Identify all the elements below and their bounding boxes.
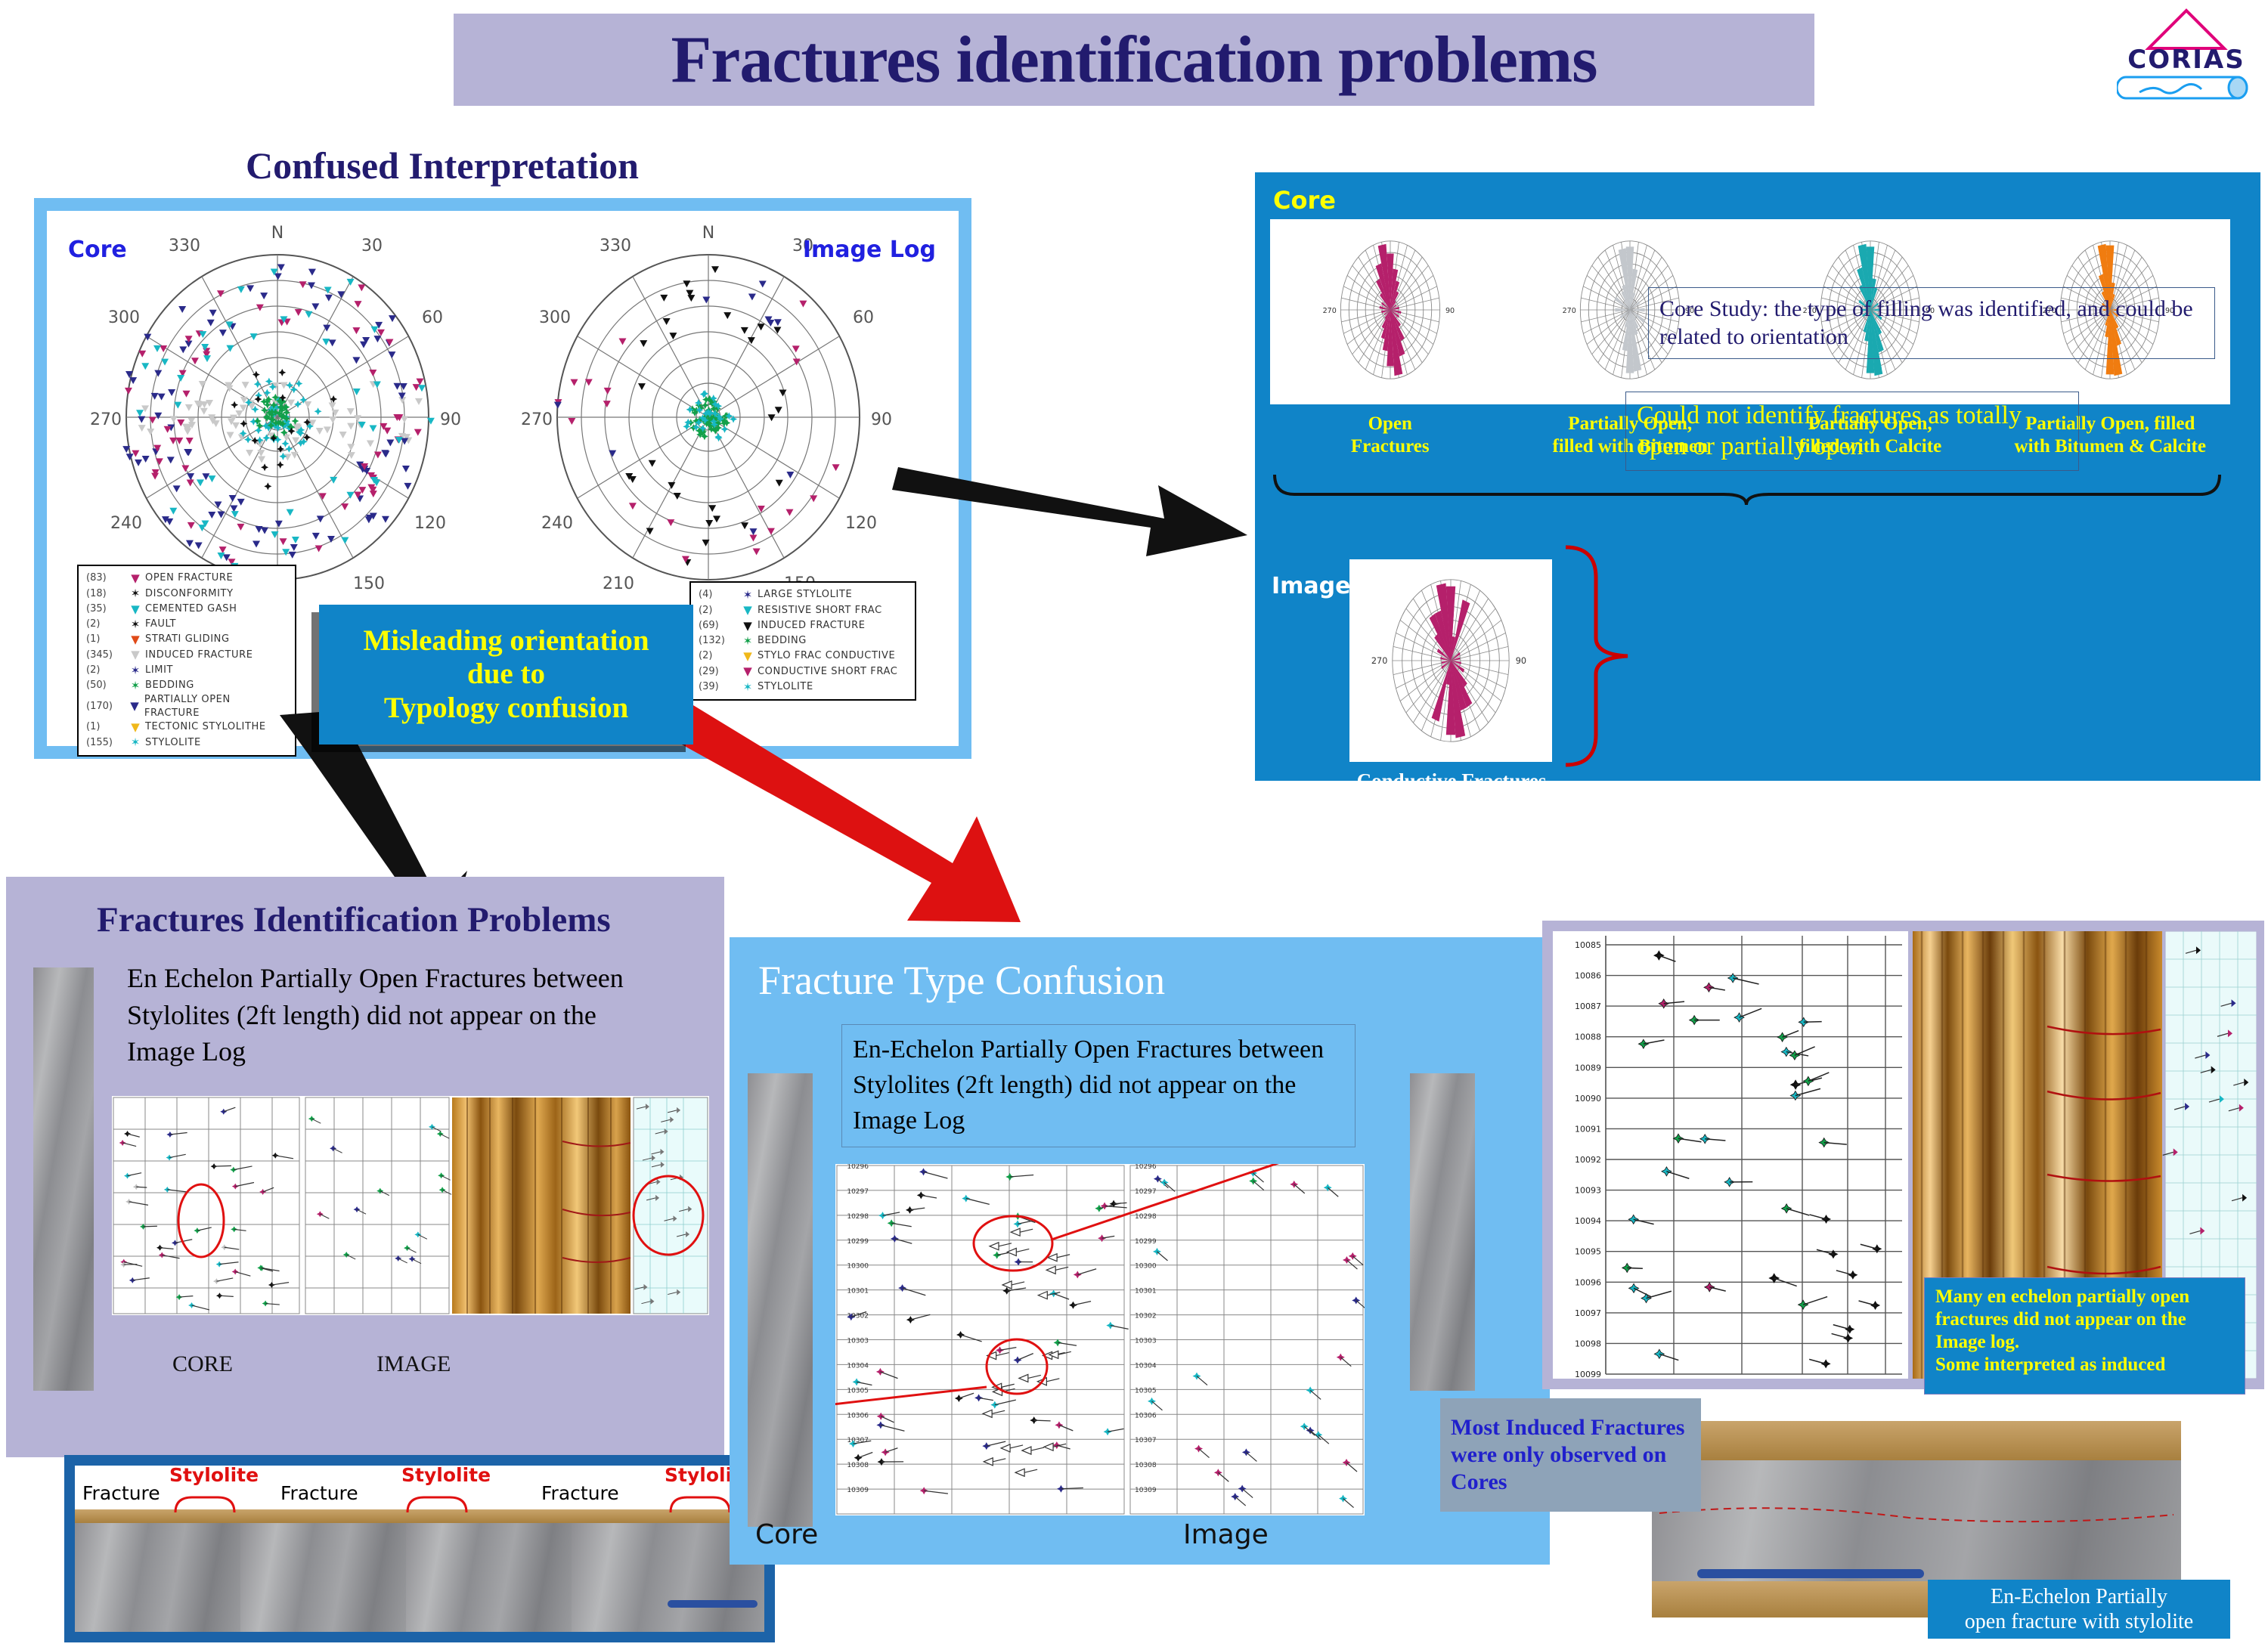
svg-text:10093: 10093 [1575, 1186, 1601, 1196]
core-legend-row: (18)✶DISCONFORMITY [86, 586, 287, 601]
fracture-label: Fracture [82, 1482, 160, 1504]
svg-text:10304: 10304 [1135, 1362, 1157, 1370]
legend-label: RESISTIVE SHORT FRAC [758, 604, 882, 618]
panel-e-image-caption: Image [1183, 1519, 1269, 1550]
stereonet-core-label: Core [68, 237, 127, 263]
svg-text:10089: 10089 [1575, 1063, 1601, 1073]
core-photo-strip [33, 967, 94, 1391]
svg-text:10296: 10296 [847, 1164, 869, 1171]
svg-text:10299: 10299 [847, 1238, 869, 1246]
legend-count: (345) [86, 649, 125, 662]
legend-count: (39) [699, 680, 738, 694]
svg-text:10092: 10092 [1575, 1155, 1601, 1165]
svg-text:10307: 10307 [1135, 1437, 1157, 1444]
svg-text:120: 120 [414, 514, 446, 533]
legend-symbol-icon: ▼ [125, 571, 145, 586]
legend-label: STRATI GLIDING [145, 633, 230, 646]
legend-count: (35) [86, 602, 125, 616]
callout-line-1: Misleading orientation [363, 624, 649, 658]
core-slab-row [75, 1509, 764, 1632]
core-vs-image-log-chart-large: 1029610296102971029710298102981029910299… [835, 1164, 1365, 1515]
conductive-fractures-caption: Conductive Fractures [1315, 769, 1588, 793]
svg-text:10306: 10306 [847, 1412, 869, 1419]
svg-text:10309: 10309 [1135, 1487, 1157, 1494]
legend-symbol-icon: ✶ [738, 680, 758, 695]
svg-text:10297: 10297 [847, 1188, 869, 1196]
legend-count: (50) [86, 679, 125, 692]
svg-text:10304: 10304 [847, 1362, 869, 1370]
image-log-tadpole-chart: 1008510086100871008810089100901009110092… [1553, 931, 1908, 1379]
panel-c-core-caption: CORE [172, 1351, 233, 1377]
legend-symbol-icon: ✶ [125, 678, 145, 693]
callout-line-3: Typology confusion [384, 692, 628, 725]
svg-text:10099: 10099 [1575, 1370, 1601, 1379]
confused-interpretation-heading: Confused Interpretation [246, 144, 639, 187]
svg-text:10306: 10306 [1135, 1412, 1157, 1419]
rose-diagram: 27090 [1304, 224, 1476, 400]
panel-e-description: En-Echelon Partially Open Fractures betw… [841, 1024, 1356, 1147]
svg-text:N: N [271, 224, 283, 243]
legend-label: STYLO FRAC CONDUCTIVE [758, 649, 895, 663]
legend-count: (83) [86, 571, 125, 585]
legend-symbol-icon: ✶ [738, 587, 758, 602]
svg-text:10305: 10305 [1135, 1387, 1157, 1395]
legend-count: (170) [86, 700, 125, 714]
legend-count: (1) [86, 720, 125, 734]
svg-text:330: 330 [169, 237, 200, 255]
svg-text:10088: 10088 [1575, 1032, 1601, 1042]
svg-text:10308: 10308 [847, 1462, 869, 1469]
svg-text:10303: 10303 [847, 1338, 869, 1345]
legend-label: BEDDING [145, 679, 194, 692]
imagelog-legend-row: (39)✶STYLOLITE [699, 680, 907, 695]
core-legend-row: (2)✶FAULT [86, 617, 287, 632]
fracture-type-confusion-panel: Fracture Type Confusion En-Echelon Parti… [730, 937, 1550, 1565]
imagelog-legend-row: (4)✶LARGE STYLOLITE [699, 587, 907, 602]
legend-count: (2) [699, 649, 738, 663]
legend-symbol-icon: ▼ [125, 602, 145, 617]
bottom-photo-caption: En-Echelon Partially open fracture with … [1928, 1580, 2230, 1639]
legend-label: INDUCED FRACTURE [758, 619, 866, 633]
imagelog-legend-row: (2)▼RESISTIVE SHORT FRAC [699, 602, 907, 618]
svg-text:10302: 10302 [1135, 1313, 1157, 1320]
svg-text:10096: 10096 [1575, 1277, 1601, 1287]
panel-b-image-label: Image [1272, 573, 1351, 599]
callout-line-2: due to [467, 658, 545, 691]
core-legend-row: (83)▼OPEN FRACTURE [86, 571, 287, 586]
svg-text:210: 210 [603, 574, 634, 593]
svg-text:270: 270 [1371, 656, 1387, 666]
legend-symbol-icon: ✶ [125, 663, 145, 678]
svg-text:10309: 10309 [847, 1487, 869, 1494]
core-legend-row: (35)▼CEMENTED GASH [86, 602, 287, 617]
imagelog-legend-row: (29)▼CONDUCTIVE SHORT FRAC [699, 664, 907, 679]
svg-text:330: 330 [600, 237, 631, 255]
could-not-identify-note: Could not identify fractures as totally … [1625, 392, 2079, 471]
legend-symbol-icon: ✶ [738, 633, 758, 649]
svg-text:270: 270 [90, 410, 122, 429]
conductive-rose-diagram: 27090 [1349, 559, 1552, 762]
legend-count: (18) [86, 587, 125, 601]
legend-label: LARGE STYLOLITE [758, 588, 852, 602]
most-induced-text: Most Induced Fractures were only observe… [1451, 1414, 1690, 1496]
svg-text:240: 240 [541, 514, 573, 533]
legend-count: (29) [699, 665, 738, 679]
legend-count: (2) [86, 618, 125, 631]
stylolite-brace-icon [171, 1491, 254, 1515]
svg-text:10298: 10298 [847, 1213, 869, 1221]
legend-count: (1) [86, 633, 125, 646]
svg-text:300: 300 [108, 308, 140, 327]
svg-text:10301: 10301 [1135, 1288, 1157, 1296]
legend-label: BEDDING [758, 634, 807, 648]
core-legend-row: (50)✶BEDDING [86, 678, 287, 693]
legend-symbol-icon: ✶ [125, 586, 145, 601]
rose-group-brace [1270, 472, 2230, 506]
svg-text:270: 270 [1563, 307, 1576, 315]
rose-caption-open: Open Fractures [1281, 413, 1500, 457]
svg-text:10299: 10299 [1135, 1238, 1157, 1246]
legend-symbol-icon: ▼ [738, 664, 758, 679]
fracture-label: Fracture [541, 1482, 619, 1504]
many-en-echelon-text: Many en echelon partially open fractures… [1935, 1286, 2189, 1375]
legend-label: CONDUCTIVE SHORT FRAC [758, 665, 897, 679]
legend-count: (155) [86, 736, 125, 750]
svg-text:10296: 10296 [1135, 1164, 1157, 1171]
stylolite-label: Stylolite [169, 1466, 259, 1486]
stylolite-label: Stylolite [401, 1466, 491, 1486]
imagelog-legend-row: (2)▼STYLO FRAC CONDUCTIVE [699, 649, 907, 664]
legend-symbol-icon: ▼ [738, 649, 758, 664]
stylolite-brace-icon [403, 1491, 486, 1515]
svg-text:240: 240 [110, 514, 142, 533]
core-study-note: Core Study: the type of filling was iden… [1648, 287, 2215, 359]
svg-text:10297: 10297 [1135, 1188, 1157, 1196]
svg-text:10298: 10298 [1135, 1213, 1157, 1221]
arrow-to-core-panel [892, 446, 1285, 559]
legend-symbol-icon: ▼ [125, 632, 145, 647]
svg-text:270: 270 [521, 410, 553, 429]
many-en-echelon-callout: Many en echelon partially open fractures… [1924, 1277, 2245, 1395]
slab-segment [75, 1523, 240, 1632]
legend-symbol-icon: ✶ [125, 617, 145, 632]
imagelog-legend-row: (132)✶BEDDING [699, 633, 907, 649]
core-legend-row: (1)▼STRATI GLIDING [86, 632, 287, 647]
legend-label: INDUCED FRACTURE [145, 649, 253, 662]
imagelog-legend-row: (69)▼INDUCED FRACTURE [699, 618, 907, 633]
corias-logo: CORIAS [2117, 5, 2257, 103]
legend-symbol-icon: ▼ [125, 647, 145, 662]
legend-label: LIMIT [145, 664, 173, 677]
svg-text:10098: 10098 [1575, 1339, 1601, 1348]
page-title: Fractures identification problems [671, 22, 1597, 98]
svg-text:10303: 10303 [1135, 1338, 1157, 1345]
svg-text:10097: 10097 [1575, 1308, 1601, 1318]
panel-c-image-caption: IMAGE [376, 1351, 451, 1377]
legend-symbol-icon: ▼ [125, 720, 145, 735]
legend-label: DISCONFORMITY [145, 587, 234, 601]
stereonet-image-log: Image Log [500, 217, 947, 610]
svg-text:10090: 10090 [1575, 1094, 1601, 1104]
legend-count: (132) [699, 634, 738, 648]
svg-text:N: N [702, 224, 714, 243]
svg-text:300: 300 [539, 308, 571, 327]
legend-symbol-icon: ▼ [125, 698, 144, 714]
svg-text:CORIAS: CORIAS [2127, 45, 2245, 75]
slide-title-banner: Fractures identification problems [454, 14, 1814, 106]
svg-text:30: 30 [361, 237, 383, 255]
stereonet-imagelog-legend: (4)✶LARGE STYLOLITE(2)▼RESISTIVE SHORT F… [689, 581, 916, 701]
core-rose-panel: Core 27090270902709027090 Open Fractures… [1255, 172, 2260, 781]
most-induced-fractures-callout: Most Induced Fractures were only observe… [1440, 1398, 1701, 1512]
svg-text:60: 60 [853, 308, 874, 327]
legend-label: OPEN FRACTURE [145, 571, 233, 585]
panel-e-heading: Fracture Type Confusion [758, 957, 1165, 1004]
svg-text:10087: 10087 [1575, 1001, 1601, 1011]
svg-text:10301: 10301 [847, 1288, 869, 1296]
svg-text:10086: 10086 [1575, 971, 1601, 981]
svg-text:10300: 10300 [1135, 1263, 1157, 1271]
slab-segment [240, 1523, 406, 1632]
svg-text:150: 150 [353, 574, 385, 593]
svg-text:10095: 10095 [1575, 1247, 1601, 1257]
core-vs-image-log-chart [112, 1096, 709, 1315]
svg-text:120: 120 [845, 514, 877, 533]
legend-label: STYLOLITE [145, 736, 201, 750]
legend-symbol-icon: ▼ [738, 602, 758, 618]
legend-symbol-icon: ▼ [738, 618, 758, 633]
panel-c-description: En Echelon Partially Open Fractures betw… [127, 960, 641, 1070]
pen-marker [668, 1600, 758, 1608]
misleading-orientation-callout: Misleading orientation due to Typology c… [319, 605, 693, 745]
svg-text:10085: 10085 [1575, 940, 1601, 950]
photo-tray [1652, 1421, 2181, 1460]
fracture-label: Fracture [280, 1482, 358, 1504]
legend-symbol-icon: ✶ [125, 735, 145, 750]
core-photo-right [1410, 1073, 1475, 1391]
legend-count: (4) [699, 588, 738, 602]
legend-count: (2) [699, 604, 738, 618]
svg-text:90: 90 [1516, 656, 1526, 666]
core-photo-left [748, 1073, 813, 1527]
svg-text:10300: 10300 [847, 1263, 869, 1271]
stereonet-core: Core [54, 217, 500, 610]
legend-count: (69) [699, 619, 738, 633]
svg-text:90: 90 [871, 410, 892, 429]
panel-c-heading: Fractures Identification Problems [97, 899, 611, 940]
legend-count: (2) [86, 664, 125, 677]
red-brace-icon [1561, 543, 1644, 769]
svg-text:90: 90 [1445, 307, 1455, 315]
stereonet-imagelog-label: Image Log [803, 237, 936, 263]
svg-text:10094: 10094 [1575, 1216, 1601, 1226]
legend-label: CEMENTED GASH [145, 602, 237, 616]
fracture-trace-overlay [1652, 1460, 2181, 1581]
svg-text:10308: 10308 [1135, 1462, 1157, 1469]
core-slab-photo-panel: FractureStyloliteFractureStyloliteFractu… [64, 1455, 775, 1642]
svg-text:10305: 10305 [847, 1387, 869, 1395]
panel-e-core-caption: Core [755, 1519, 818, 1550]
slab-segment [406, 1523, 572, 1632]
core-legend-row: (345)▼INDUCED FRACTURE [86, 647, 287, 662]
panel-b-core-label: Core [1273, 186, 1336, 215]
fractures-identification-problems-panel: Fractures Identification Problems En Ech… [6, 877, 724, 1457]
core-legend-row: (2)✶LIMIT [86, 663, 287, 678]
bottom-caption-text: En-Echelon Partially open fracture with … [1965, 1584, 2193, 1634]
svg-text:270: 270 [1322, 307, 1336, 315]
legend-label: FAULT [145, 618, 176, 631]
svg-text:90: 90 [440, 410, 461, 429]
svg-text:10091: 10091 [1575, 1124, 1601, 1134]
legend-label: TECTONIC STYLOLITHE [145, 720, 266, 734]
svg-text:60: 60 [422, 308, 443, 327]
legend-label: STYLOLITE [758, 680, 813, 694]
